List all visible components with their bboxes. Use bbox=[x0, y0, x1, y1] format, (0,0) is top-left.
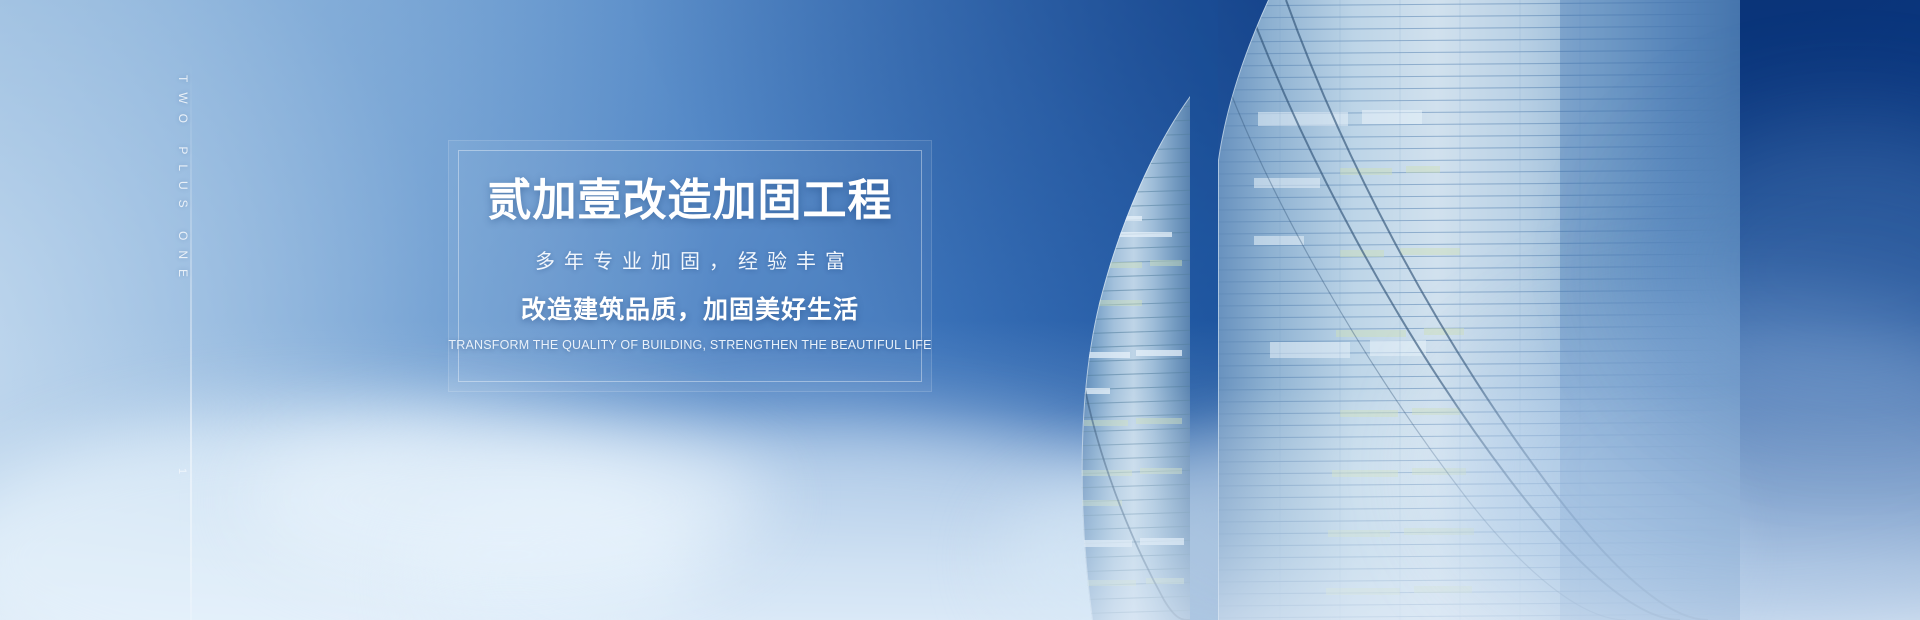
hero-subline: 多年专业加固，经验丰富 bbox=[526, 252, 854, 272]
brand-bottom-mark: 1 bbox=[176, 468, 188, 476]
hero-headline: 贰加壹改造加固工程 bbox=[488, 179, 893, 223]
hero-tagline-english: TRANSFORM THE QUALITY OF BUILDING, STREN… bbox=[448, 339, 931, 352]
brand-vertical-text: TWO PLUS ONE bbox=[176, 75, 190, 287]
hero-banner: TWO PLUS ONE 1 贰加壹改造加固工程 多年专业加固，经验丰富 改造建… bbox=[0, 0, 1920, 620]
hero-text-panel: 贰加壹改造加固工程 多年专业加固，经验丰富 改造建筑品质，加固美好生活 TRAN… bbox=[448, 140, 932, 392]
hero-panel-content: 贰加壹改造加固工程 多年专业加固，经验丰富 改造建筑品质，加固美好生活 TRAN… bbox=[449, 141, 931, 391]
hero-tagline: 改造建筑品质，加固美好生活 bbox=[521, 298, 859, 323]
horizon-haze-layer bbox=[0, 320, 1920, 620]
brand-vertical-divider bbox=[190, 0, 192, 620]
